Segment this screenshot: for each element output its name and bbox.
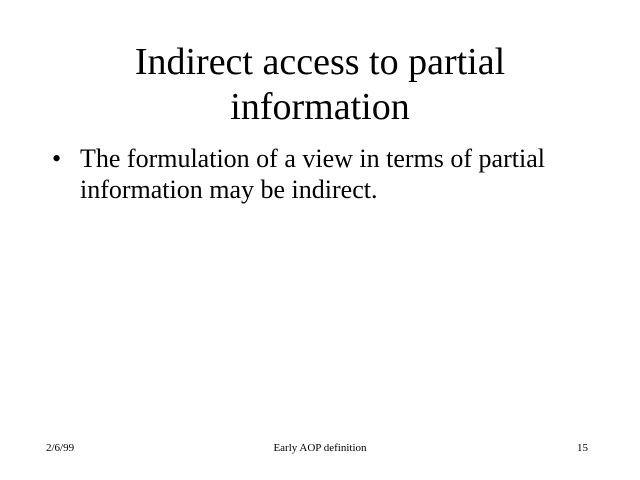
slide-footer: 2/6/99 Early AOP definition 15 <box>0 438 640 458</box>
footer-page-number: 15 <box>577 438 588 458</box>
slide-title-line-1: Indirect access to partial <box>40 40 600 85</box>
slide-body-bullet-list: • The formulation of a view in terms of … <box>40 143 560 205</box>
footer-title-text: Early AOP definition <box>0 438 640 458</box>
presentation-slide: Indirect access to partial information •… <box>0 0 640 480</box>
bullet-point-icon: • <box>52 143 61 174</box>
bullet-item: • The formulation of a view in terms of … <box>40 143 560 205</box>
slide-title: Indirect access to partial information <box>40 40 600 130</box>
bullet-item-text: The formulation of a view in terms of pa… <box>80 143 560 205</box>
slide-title-line-2: information <box>40 85 600 130</box>
